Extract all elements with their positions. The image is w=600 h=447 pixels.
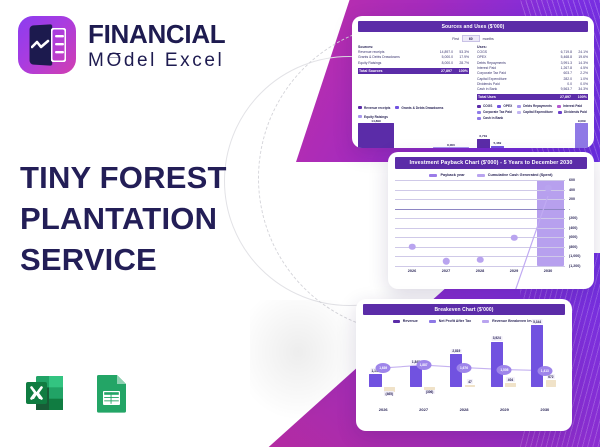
breakeven-legend-item[interactable]: Net Profit After Tax — [429, 319, 471, 323]
payback-y-tick: (800) — [569, 245, 577, 249]
headline-line-2: PLANTATION — [20, 199, 290, 240]
payback-legend-label: Payback year — [440, 173, 464, 177]
uses-chart-legend[interactable]: COGSOPEXDebts RepaymentsInterest PaidCor… — [477, 104, 588, 120]
payback-y-tick: (1,200) — [569, 264, 580, 268]
decorative-shadow-blob — [250, 300, 370, 430]
breakeven-npat-label: (465) — [384, 391, 394, 396]
breakeven-revenue-bar[interactable] — [369, 374, 381, 387]
uses-legend-label: Dividends Paid — [564, 110, 587, 114]
uses-total-row: Total Uses 27,897 100% — [477, 94, 588, 100]
breakeven-legend-swatch — [393, 320, 400, 323]
payback-data-point[interactable] — [545, 185, 552, 192]
microsoft-excel-icon: X — [22, 370, 68, 416]
sources-table-pct: 28.7% — [453, 61, 469, 66]
uses-heading: Uses: — [477, 45, 588, 49]
sources-rows: Revenue receipts14,897.053.3%Grants & De… — [358, 50, 469, 66]
uses-legend-swatch — [497, 105, 501, 108]
sources-chart-bar[interactable]: 14,899 — [358, 123, 394, 148]
uses-legend-label: Cash in Bank — [483, 116, 503, 120]
sources-legend-label: Revenue receipts — [364, 106, 390, 110]
uses-table-amount: 9,563.7 — [546, 87, 572, 92]
svg-text:X: X — [31, 386, 41, 403]
breakeven-level-bubble[interactable]: 1,676 — [457, 363, 472, 373]
breakeven-revenue-label: 2,819 — [451, 349, 462, 354]
uses-legend-swatch — [477, 105, 481, 108]
uses-legend-label: Capital Expenditure — [523, 110, 553, 114]
uses-total-amount: 27,897 — [545, 95, 571, 99]
breakeven-legend-item[interactable]: Revenue — [393, 319, 418, 323]
payback-plot-area[interactable]: 600400200-(200)(400)(600)(800)(1,000)(1,… — [395, 180, 565, 266]
breakeven-x-axis-labels: 20262027202820292030 — [363, 407, 565, 412]
uses-legend-swatch — [517, 111, 521, 114]
sources-heading: Sources: — [358, 45, 469, 49]
uses-total-label: Total Uses — [478, 95, 545, 99]
headline-line-3: SERVICE — [20, 240, 290, 281]
sources-chart-bar-fill — [358, 123, 394, 148]
uses-table-label: Cash in Bank — [477, 87, 546, 92]
brand-text: FINANCIAL MOdel Excel — [88, 21, 225, 70]
payback-y-tick: (400) — [569, 226, 577, 230]
sources-total-amount: 27,897 — [426, 69, 452, 73]
payback-legend-swatch — [477, 174, 485, 177]
breakeven-level-bubble[interactable]: 1,413 — [537, 366, 552, 376]
uses-legend-item[interactable]: Cash in Bank — [477, 116, 503, 120]
sources-total-label: Total Sources — [359, 69, 426, 73]
uses-chart-bar-fill — [491, 146, 504, 148]
page-title: TINY FOREST PLANTATION SERVICE — [20, 158, 290, 281]
breakeven-x-tick: 2026 — [363, 407, 403, 412]
breakeven-revenue-bar[interactable] — [531, 325, 543, 387]
breakeven-x-tick: 2030 — [525, 407, 565, 412]
uses-chart-bar[interactable]: 9,089 — [575, 123, 588, 148]
payback-y-tick: (600) — [569, 235, 577, 239]
breakeven-x-tick: 2027 — [403, 407, 443, 412]
sources-filter-row[interactable]: First 60 months — [358, 35, 588, 42]
uses-legend-item[interactable]: Dividends Paid — [558, 110, 587, 114]
sources-table-row: Equity Raisings8,000.028.7% — [358, 61, 469, 66]
payback-y-tick: 200 — [569, 197, 575, 201]
payback-legend-label: Cumulative Cash Generated (Spent) — [488, 173, 553, 177]
breakeven-npat-label: 404 — [506, 377, 514, 382]
payback-data-point[interactable] — [443, 258, 450, 265]
sources-legend-swatch — [395, 106, 399, 109]
sources-legend-swatch — [358, 115, 362, 118]
financial-model-excel-logo-icon — [18, 16, 76, 74]
sources-bar-chart[interactable]: 14,8995,0008,000 — [358, 123, 469, 148]
panel-title-sources-uses: Sources and Uses ($'000) — [358, 21, 588, 32]
uses-legend-swatch — [477, 117, 481, 120]
breakeven-legend-label: Revenue Breakeven level — [492, 319, 535, 323]
filter-prefix-label: First — [452, 37, 459, 41]
uses-legend-item[interactable]: Corporate Tax Paid — [477, 110, 512, 114]
payback-y-tick: (1,000) — [569, 254, 580, 258]
uses-total-pct: 100% — [571, 95, 587, 99]
sources-legend-swatch — [358, 106, 362, 109]
uses-table-pct: 34.3% — [572, 87, 588, 92]
payback-y-tick: 400 — [569, 188, 575, 192]
poster-canvas: FINANCIAL MOdel Excel TINY FOREST PLANTA… — [0, 0, 600, 447]
breakeven-legend-swatch — [482, 320, 489, 323]
sources-total-row: Total Sources 27,897 100% — [358, 68, 469, 74]
payback-data-point[interactable] — [511, 235, 518, 242]
filter-suffix-label: months — [483, 37, 494, 41]
uses-legend-item[interactable]: Debts Repayments — [517, 104, 552, 108]
file-format-icons: X — [22, 370, 134, 416]
sources-chart-value-label: 8,000 — [447, 143, 455, 147]
sources-table-label: Equity Raisings — [358, 61, 427, 66]
payback-y-tick: - — [569, 207, 570, 211]
breakeven-x-tick: 2029 — [484, 407, 524, 412]
breakeven-npat-bar[interactable] — [546, 380, 557, 387]
uses-chart-bar-fill — [575, 123, 588, 148]
breakeven-npat-bar[interactable] — [505, 383, 516, 387]
sources-uses-tables: Sources: Revenue receipts14,897.053.3%Gr… — [358, 45, 588, 100]
breakeven-revenue-label: 5,344 — [532, 319, 543, 324]
uses-chart-bar[interactable]: 6,719 — [477, 139, 490, 148]
uses-legend-label: COGS — [483, 104, 492, 108]
payback-legend-item[interactable]: Cumulative Cash Generated (Spent) — [477, 173, 553, 177]
uses-table-row: Cash in Bank9,563.734.3% — [477, 87, 588, 92]
breakeven-group: 5,344672 — [525, 325, 565, 403]
logo-squiggle-icon — [31, 39, 50, 51]
sources-table-amount: 8,000.0 — [427, 61, 453, 66]
uses-legend-item[interactable]: Capital Expenditure — [517, 110, 553, 114]
brand-subtitle-suffix: del Excel — [124, 50, 225, 71]
uses-legend-label: Corporate Tax Paid — [483, 110, 512, 114]
uses-legend-label: OPEX — [503, 104, 512, 108]
sources-table: Sources: Revenue receipts14,897.053.3%Gr… — [358, 45, 469, 100]
uses-chart-value-label: 9,089 — [578, 119, 586, 123]
uses-rows: COGS6,719.824.1%OPEX5,468.819.6%Debts Re… — [477, 50, 588, 92]
breakeven-panel[interactable]: Breakeven Chart ($'000) RevenueNet Profi… — [356, 299, 572, 431]
sources-uses-charts: 14,8995,0008,000 6,7195,4693,9911,268604… — [358, 123, 588, 148]
payback-legend-item[interactable]: Payback year — [429, 173, 464, 177]
google-sheets-icon — [88, 370, 134, 416]
sources-chart-bar[interactable]: 8,000 — [433, 147, 469, 148]
breakeven-level-bubble[interactable]: 1,887 — [416, 360, 431, 370]
uses-legend-swatch — [477, 111, 481, 114]
payback-y-tick: 600 — [569, 178, 575, 182]
uses-legend-item[interactable]: COGS — [477, 104, 492, 108]
uses-chart-value-label: 6,719 — [479, 134, 487, 138]
sources-legend-item[interactable]: Grants & Debts Drawdowns — [395, 104, 443, 111]
uses-legend-label: Debts Repayments — [523, 104, 552, 108]
uses-legend-swatch — [557, 105, 561, 108]
breakeven-level-bubble[interactable]: 1,505 — [497, 365, 512, 375]
sources-legend-item[interactable]: Revenue receipts — [358, 104, 390, 111]
payback-line-series — [395, 180, 565, 289]
uses-chart-value-label: 5,469 — [493, 141, 501, 145]
brand-lockup: FINANCIAL MOdel Excel — [18, 16, 225, 74]
breakeven-legend-item[interactable]: Revenue Breakeven level — [482, 319, 535, 323]
panel-title-breakeven: Breakeven Chart ($'000) — [363, 304, 565, 315]
sources-uses-legends: Revenue receiptsGrants & Debts Drawdowns… — [358, 104, 588, 120]
brand-subtitle: MOdel Excel — [88, 51, 225, 70]
payback-data-point[interactable] — [477, 257, 484, 264]
investment-payback-panel[interactable]: Investment Payback Chart ($'000) - 5 Yea… — [388, 152, 594, 289]
sources-legend-label: Grants & Debts Drawdowns — [401, 106, 443, 110]
payback-data-point[interactable] — [409, 244, 416, 251]
uses-legend-swatch — [558, 111, 562, 114]
uses-chart-bar[interactable]: 5,469 — [491, 146, 504, 148]
headline-line-1: TINY FOREST — [20, 158, 290, 199]
breakeven-legend-label: Revenue — [403, 319, 418, 323]
logo-document-lines-icon — [51, 28, 66, 62]
sources-chart-value-label: 14,899 — [371, 119, 380, 123]
breakeven-level-bubble[interactable]: 1,639 — [376, 363, 391, 373]
filter-months-input[interactable]: 60 — [462, 35, 480, 42]
sources-chart-bar-fill — [433, 147, 469, 148]
uses-chart-bar-fill — [477, 139, 490, 148]
breakeven-npat-bar[interactable] — [465, 385, 476, 387]
uses-legend-swatch — [517, 105, 521, 108]
breakeven-legend-swatch — [429, 320, 436, 323]
panel-title-payback: Investment Payback Chart ($'000) - 5 Yea… — [395, 157, 587, 169]
brand-subtitle-prefix: M — [88, 50, 106, 71]
payback-y-axis-labels: 600400200-(200)(400)(600)(800)(1,000)(1,… — [565, 180, 589, 266]
uses-bar-chart[interactable]: 6,7195,4693,9911,26860428209,089 — [477, 123, 588, 148]
payback-legend-swatch — [429, 174, 437, 177]
uses-table: Uses: COGS6,719.824.1%OPEX5,468.819.6%De… — [477, 45, 588, 100]
payback-chart-legend[interactable]: Payback yearCumulative Cash Generated (S… — [395, 173, 587, 177]
breakeven-legend-label: Net Profit After Tax — [439, 319, 471, 323]
breakeven-revenue-label: 3,924 — [491, 336, 502, 341]
sources-total-pct: 100% — [452, 69, 468, 73]
brand-title: FINANCIAL — [88, 21, 225, 47]
uses-legend-item[interactable]: OPEX — [497, 104, 512, 108]
breakeven-plot-area[interactable]: 1,140(465)1,848(306)2,819473,9244045,344… — [363, 325, 565, 403]
brand-subtitle-o-glyph: O — [106, 51, 123, 70]
uses-legend-label: Interest Paid — [563, 104, 582, 108]
breakeven-npat-label: (306) — [425, 390, 435, 395]
breakeven-npat-label: 47 — [467, 379, 473, 384]
payback-y-tick: (200) — [569, 216, 577, 220]
uses-legend-item[interactable]: Interest Paid — [557, 104, 582, 108]
sources-and-uses-panel[interactable]: Sources and Uses ($'000) First 60 months… — [352, 16, 594, 148]
breakeven-x-tick: 2028 — [444, 407, 484, 412]
